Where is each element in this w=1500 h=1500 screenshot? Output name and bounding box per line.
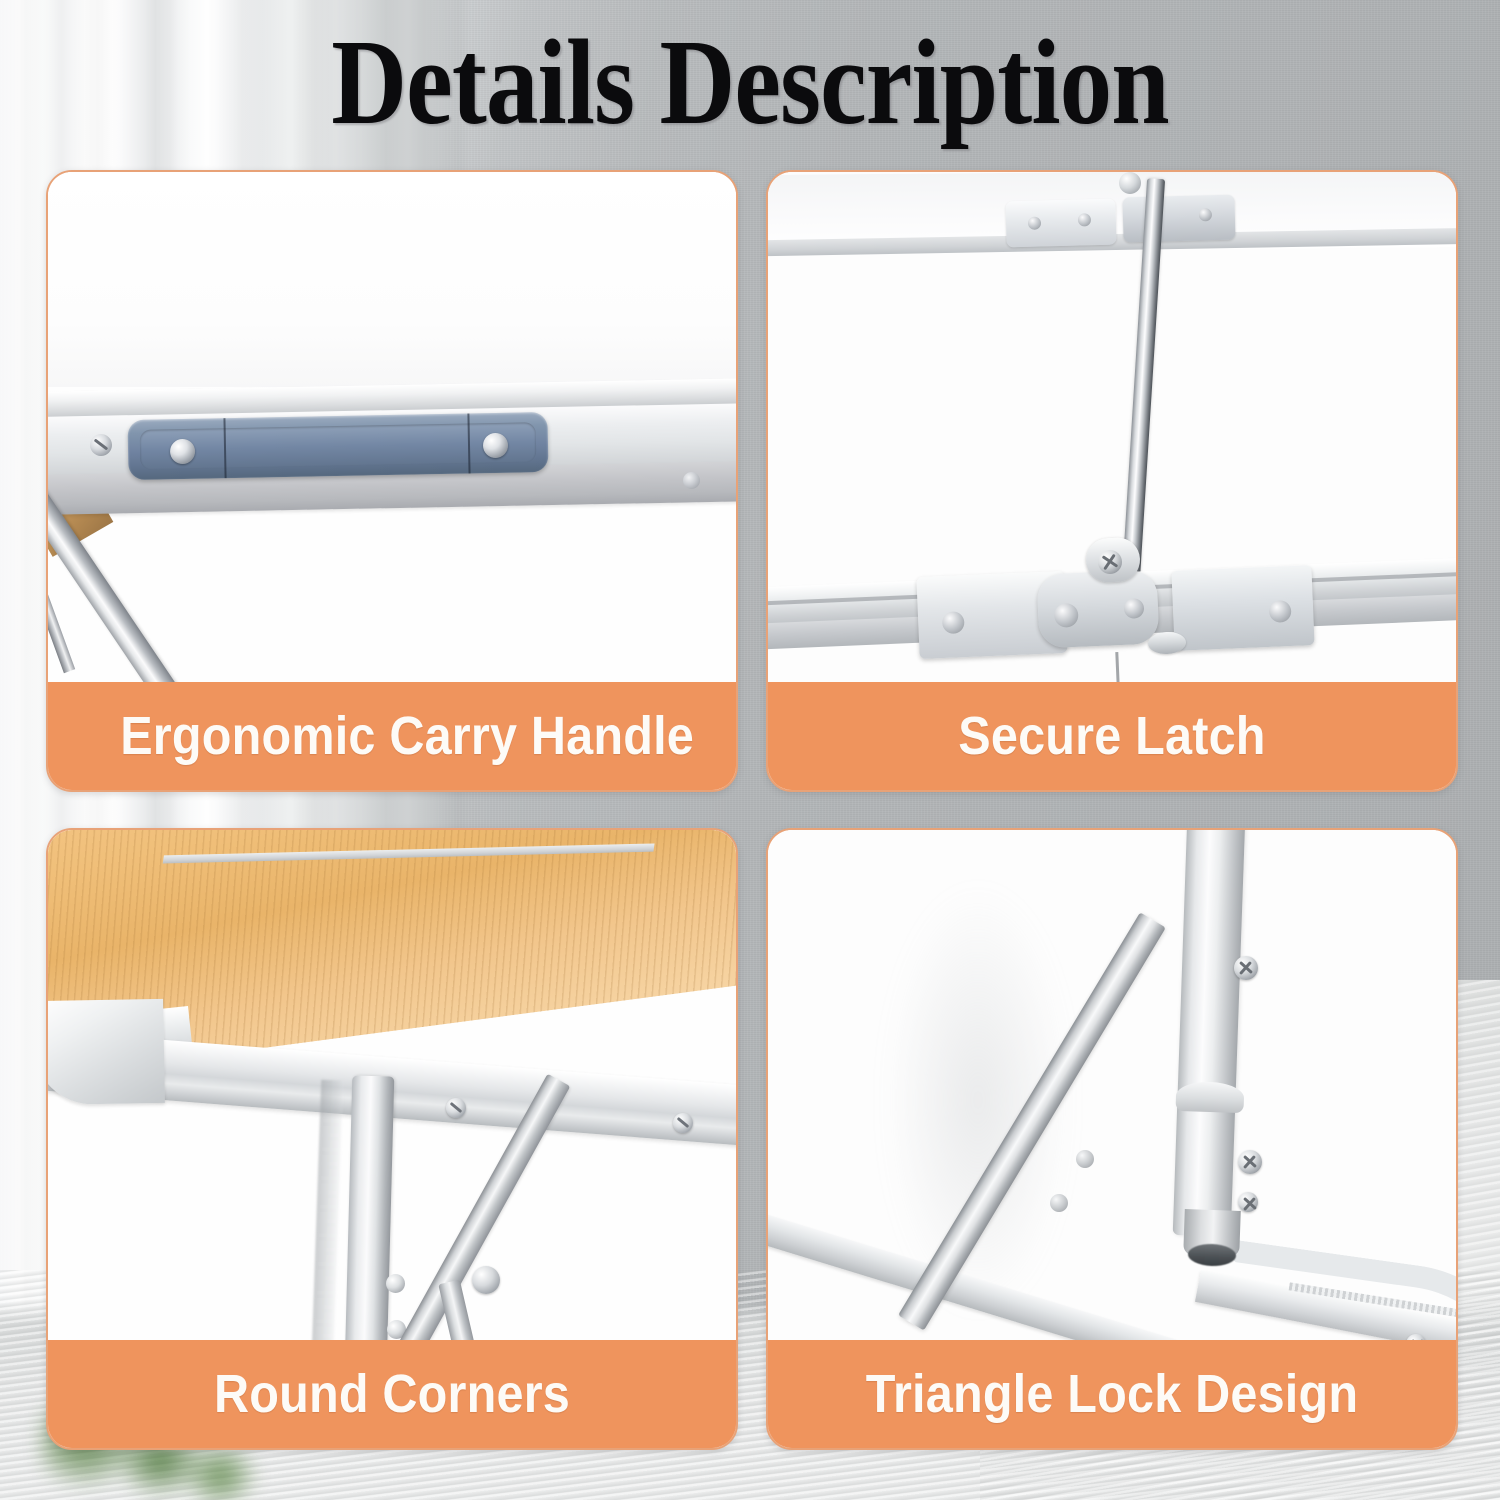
brace-hole-2 xyxy=(1050,1194,1068,1212)
carry-handle-grip xyxy=(140,422,537,470)
secure-latch-scene xyxy=(768,172,1456,682)
caption-ergonomic-carry-handle: Ergonomic Carry Handle xyxy=(48,682,736,790)
feature-card-round-corners[interactable]: Round Corners xyxy=(46,828,738,1450)
leg-height-pin-upper xyxy=(386,1274,405,1293)
table-leg-tube xyxy=(344,1076,395,1340)
leg-shadow xyxy=(311,1080,343,1340)
photo-triangle-lock-design xyxy=(768,830,1456,1340)
caption-label: Round Corners xyxy=(82,1363,701,1425)
table-halves-seam xyxy=(1115,652,1119,682)
triangle-lock-scene xyxy=(768,830,1456,1340)
caption-secure-latch: Secure Latch xyxy=(768,682,1456,790)
leg-screw-middle xyxy=(1238,1150,1262,1174)
caption-label: Secure Latch xyxy=(802,705,1421,767)
latch-plate-center xyxy=(1037,570,1160,649)
plate-hole xyxy=(942,611,965,634)
brace-hole-1 xyxy=(1076,1150,1094,1168)
rounded-corner xyxy=(48,999,165,1105)
plate-hole xyxy=(1269,600,1292,623)
photo-backdrop xyxy=(48,172,736,387)
carry-handle-scene xyxy=(48,172,736,682)
latch-screw-head xyxy=(1148,631,1187,655)
carry-handle xyxy=(127,412,548,480)
round-corners-scene xyxy=(48,830,736,1340)
tabletop-seam-cross xyxy=(163,843,655,863)
latch-rod-tip xyxy=(1119,172,1141,194)
plate-hole xyxy=(1199,208,1212,221)
table-leg-tube xyxy=(1173,830,1246,1237)
photo-ergonomic-carry-handle xyxy=(48,172,736,682)
upper-mount-plate-right xyxy=(1122,195,1235,243)
trim-screw-1 xyxy=(446,1098,466,1118)
plate-hole xyxy=(1054,603,1079,628)
brace-pivot-joint xyxy=(472,1266,500,1294)
trim-screw-2 xyxy=(673,1113,693,1133)
feature-card-grid: Ergonomic Carry Handle xyxy=(46,170,1458,1450)
page-title: Details Description xyxy=(105,22,1395,144)
plate-hole xyxy=(1028,217,1041,230)
photo-round-corners xyxy=(48,830,736,1340)
upper-mount-plate-left xyxy=(1005,199,1116,248)
caption-label: Ergonomic Carry Handle xyxy=(82,705,701,767)
latch-plate-right xyxy=(1171,565,1314,651)
leg-screw-upper xyxy=(1234,956,1258,980)
feature-card-ergonomic-carry-handle[interactable]: Ergonomic Carry Handle xyxy=(46,170,738,792)
feature-card-secure-latch[interactable]: Secure Latch xyxy=(766,170,1458,792)
caption-label: Triangle Lock Design xyxy=(802,1363,1421,1425)
photo-secure-latch xyxy=(768,172,1456,682)
caption-triangle-lock-design: Triangle Lock Design xyxy=(768,1340,1456,1448)
latch-pivot-screw xyxy=(1098,550,1122,574)
plate-hole xyxy=(1124,598,1145,619)
plate-hole xyxy=(1078,213,1091,226)
infographic-stage: Details Description xyxy=(0,0,1500,1500)
feature-card-triangle-lock-design[interactable]: Triangle Lock Design xyxy=(766,828,1458,1450)
leg-screw-lower xyxy=(1238,1192,1258,1212)
caption-round-corners: Round Corners xyxy=(48,1340,736,1448)
